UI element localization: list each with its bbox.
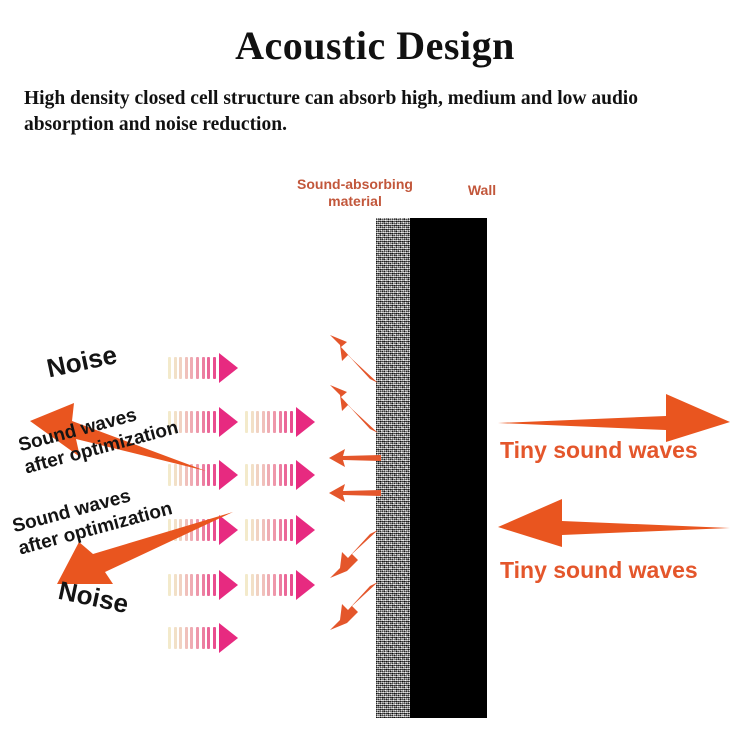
wave-bar [213, 627, 216, 649]
wave-bar [251, 464, 254, 486]
wave-bar [273, 519, 276, 541]
wave-bar [251, 519, 254, 541]
wave-bar [279, 411, 282, 433]
wave-bar [256, 519, 259, 541]
wave-bar [267, 574, 270, 596]
wave-arrowhead [296, 570, 315, 600]
tiny-sound-waves-arrow-left [498, 497, 730, 549]
wave-arrowhead [219, 623, 238, 653]
wave-bar [279, 574, 282, 596]
wave-bar [290, 464, 293, 486]
wave-bar [262, 464, 265, 486]
sound-wave-arrow [168, 353, 238, 383]
wave-bar [196, 357, 199, 379]
wave-bar [245, 411, 248, 433]
wave-bar [245, 464, 248, 486]
wave-bars [245, 411, 295, 433]
page-subtitle: High density closed cell structure can a… [24, 86, 730, 138]
sound-wave-arrow [245, 515, 315, 545]
wave-bar [179, 627, 182, 649]
wave-bar [185, 357, 188, 379]
wave-bar [267, 519, 270, 541]
wave-bars [168, 627, 218, 649]
wave-bar [207, 357, 210, 379]
wave-bar [290, 519, 293, 541]
wave-bar [213, 357, 216, 379]
noise-label-top: Noise [44, 339, 120, 384]
wave-bar [284, 519, 287, 541]
wave-bar [251, 411, 254, 433]
wave-bar [267, 464, 270, 486]
wall-block [410, 218, 487, 718]
wave-bar [168, 357, 171, 379]
wave-bar [284, 574, 287, 596]
reflected-wave-arrow-up [330, 333, 380, 385]
wave-bar [190, 357, 193, 379]
sound-wave-arrow [168, 623, 238, 653]
wave-bars [168, 357, 218, 379]
wave-bar [273, 574, 276, 596]
wave-bar [256, 574, 259, 596]
wave-bar [290, 411, 293, 433]
wave-bars [245, 519, 295, 541]
reflected-wave-arrow-left [329, 482, 381, 504]
wave-bar [262, 411, 265, 433]
wave-bar [202, 627, 205, 649]
wave-arrowhead [219, 407, 238, 437]
wave-bar [267, 411, 270, 433]
wave-arrowhead [296, 407, 315, 437]
wave-bar [273, 464, 276, 486]
wave-bar [262, 519, 265, 541]
infographic-canvas: Acoustic Design High density closed cell… [0, 0, 750, 750]
sound-wave-arrow [245, 570, 315, 600]
wave-bar [196, 627, 199, 649]
wave-bar [185, 627, 188, 649]
wall-label: Wall [447, 182, 517, 198]
reflected-wave-arrow-down [330, 580, 380, 632]
wave-bar [245, 519, 248, 541]
wave-arrowhead [296, 515, 315, 545]
sound-absorbing-material-label: Sound-absorbing material [275, 176, 435, 210]
wave-arrowhead [219, 353, 238, 383]
reflected-wave-arrow-left [329, 447, 381, 469]
wave-bar [256, 411, 259, 433]
wave-bar [179, 357, 182, 379]
wave-bars [245, 574, 295, 596]
wave-bar [174, 357, 177, 379]
sound-wave-arrow [245, 460, 315, 490]
wave-bar [190, 627, 193, 649]
wave-arrowhead [296, 460, 315, 490]
tiny-sound-waves-label-bottom: Tiny sound waves [500, 557, 698, 584]
wave-bar [262, 574, 265, 596]
sound-wave-arrow [245, 407, 315, 437]
wave-bar [273, 411, 276, 433]
tiny-sound-waves-label-top: Tiny sound waves [500, 437, 698, 464]
wave-bar [284, 464, 287, 486]
page-title: Acoustic Design [0, 22, 750, 69]
wave-bar [168, 627, 171, 649]
sound-absorbing-material-block [376, 218, 410, 718]
wave-bar [213, 464, 216, 486]
wave-bar [202, 357, 205, 379]
wave-bar [213, 411, 216, 433]
wave-bar [245, 574, 248, 596]
wave-bar [256, 464, 259, 486]
wave-bar [284, 411, 287, 433]
wave-bar [207, 627, 210, 649]
reflected-wave-arrow-up [330, 383, 380, 435]
reflected-wave-arrow-down [330, 528, 380, 580]
wave-bar [290, 574, 293, 596]
wave-bar [174, 627, 177, 649]
wave-bar [279, 464, 282, 486]
wave-bars [245, 464, 295, 486]
wave-bar [251, 574, 254, 596]
wave-bar [279, 519, 282, 541]
wave-arrowhead [219, 460, 238, 490]
